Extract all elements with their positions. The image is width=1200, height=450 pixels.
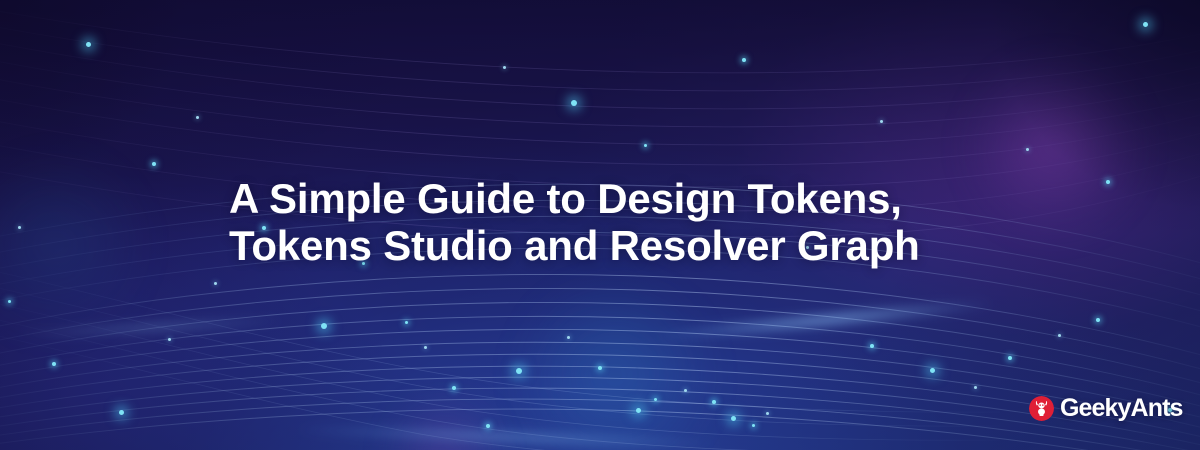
ant-in-circle-icon (1029, 396, 1054, 421)
hero-banner: A Simple Guide to Design Tokens, Tokens … (0, 0, 1200, 450)
geekyants-wordmark: GeekyAnts (1060, 396, 1183, 421)
banner-title-line-2: Tokens Studio and Resolver Graph (229, 222, 1019, 269)
banner-title: A Simple Guide to Design Tokens, Tokens … (229, 175, 1019, 269)
geekyants-logo[interactable]: GeekyAnts (1029, 396, 1183, 421)
banner-title-line-1: A Simple Guide to Design Tokens, (229, 175, 1019, 222)
